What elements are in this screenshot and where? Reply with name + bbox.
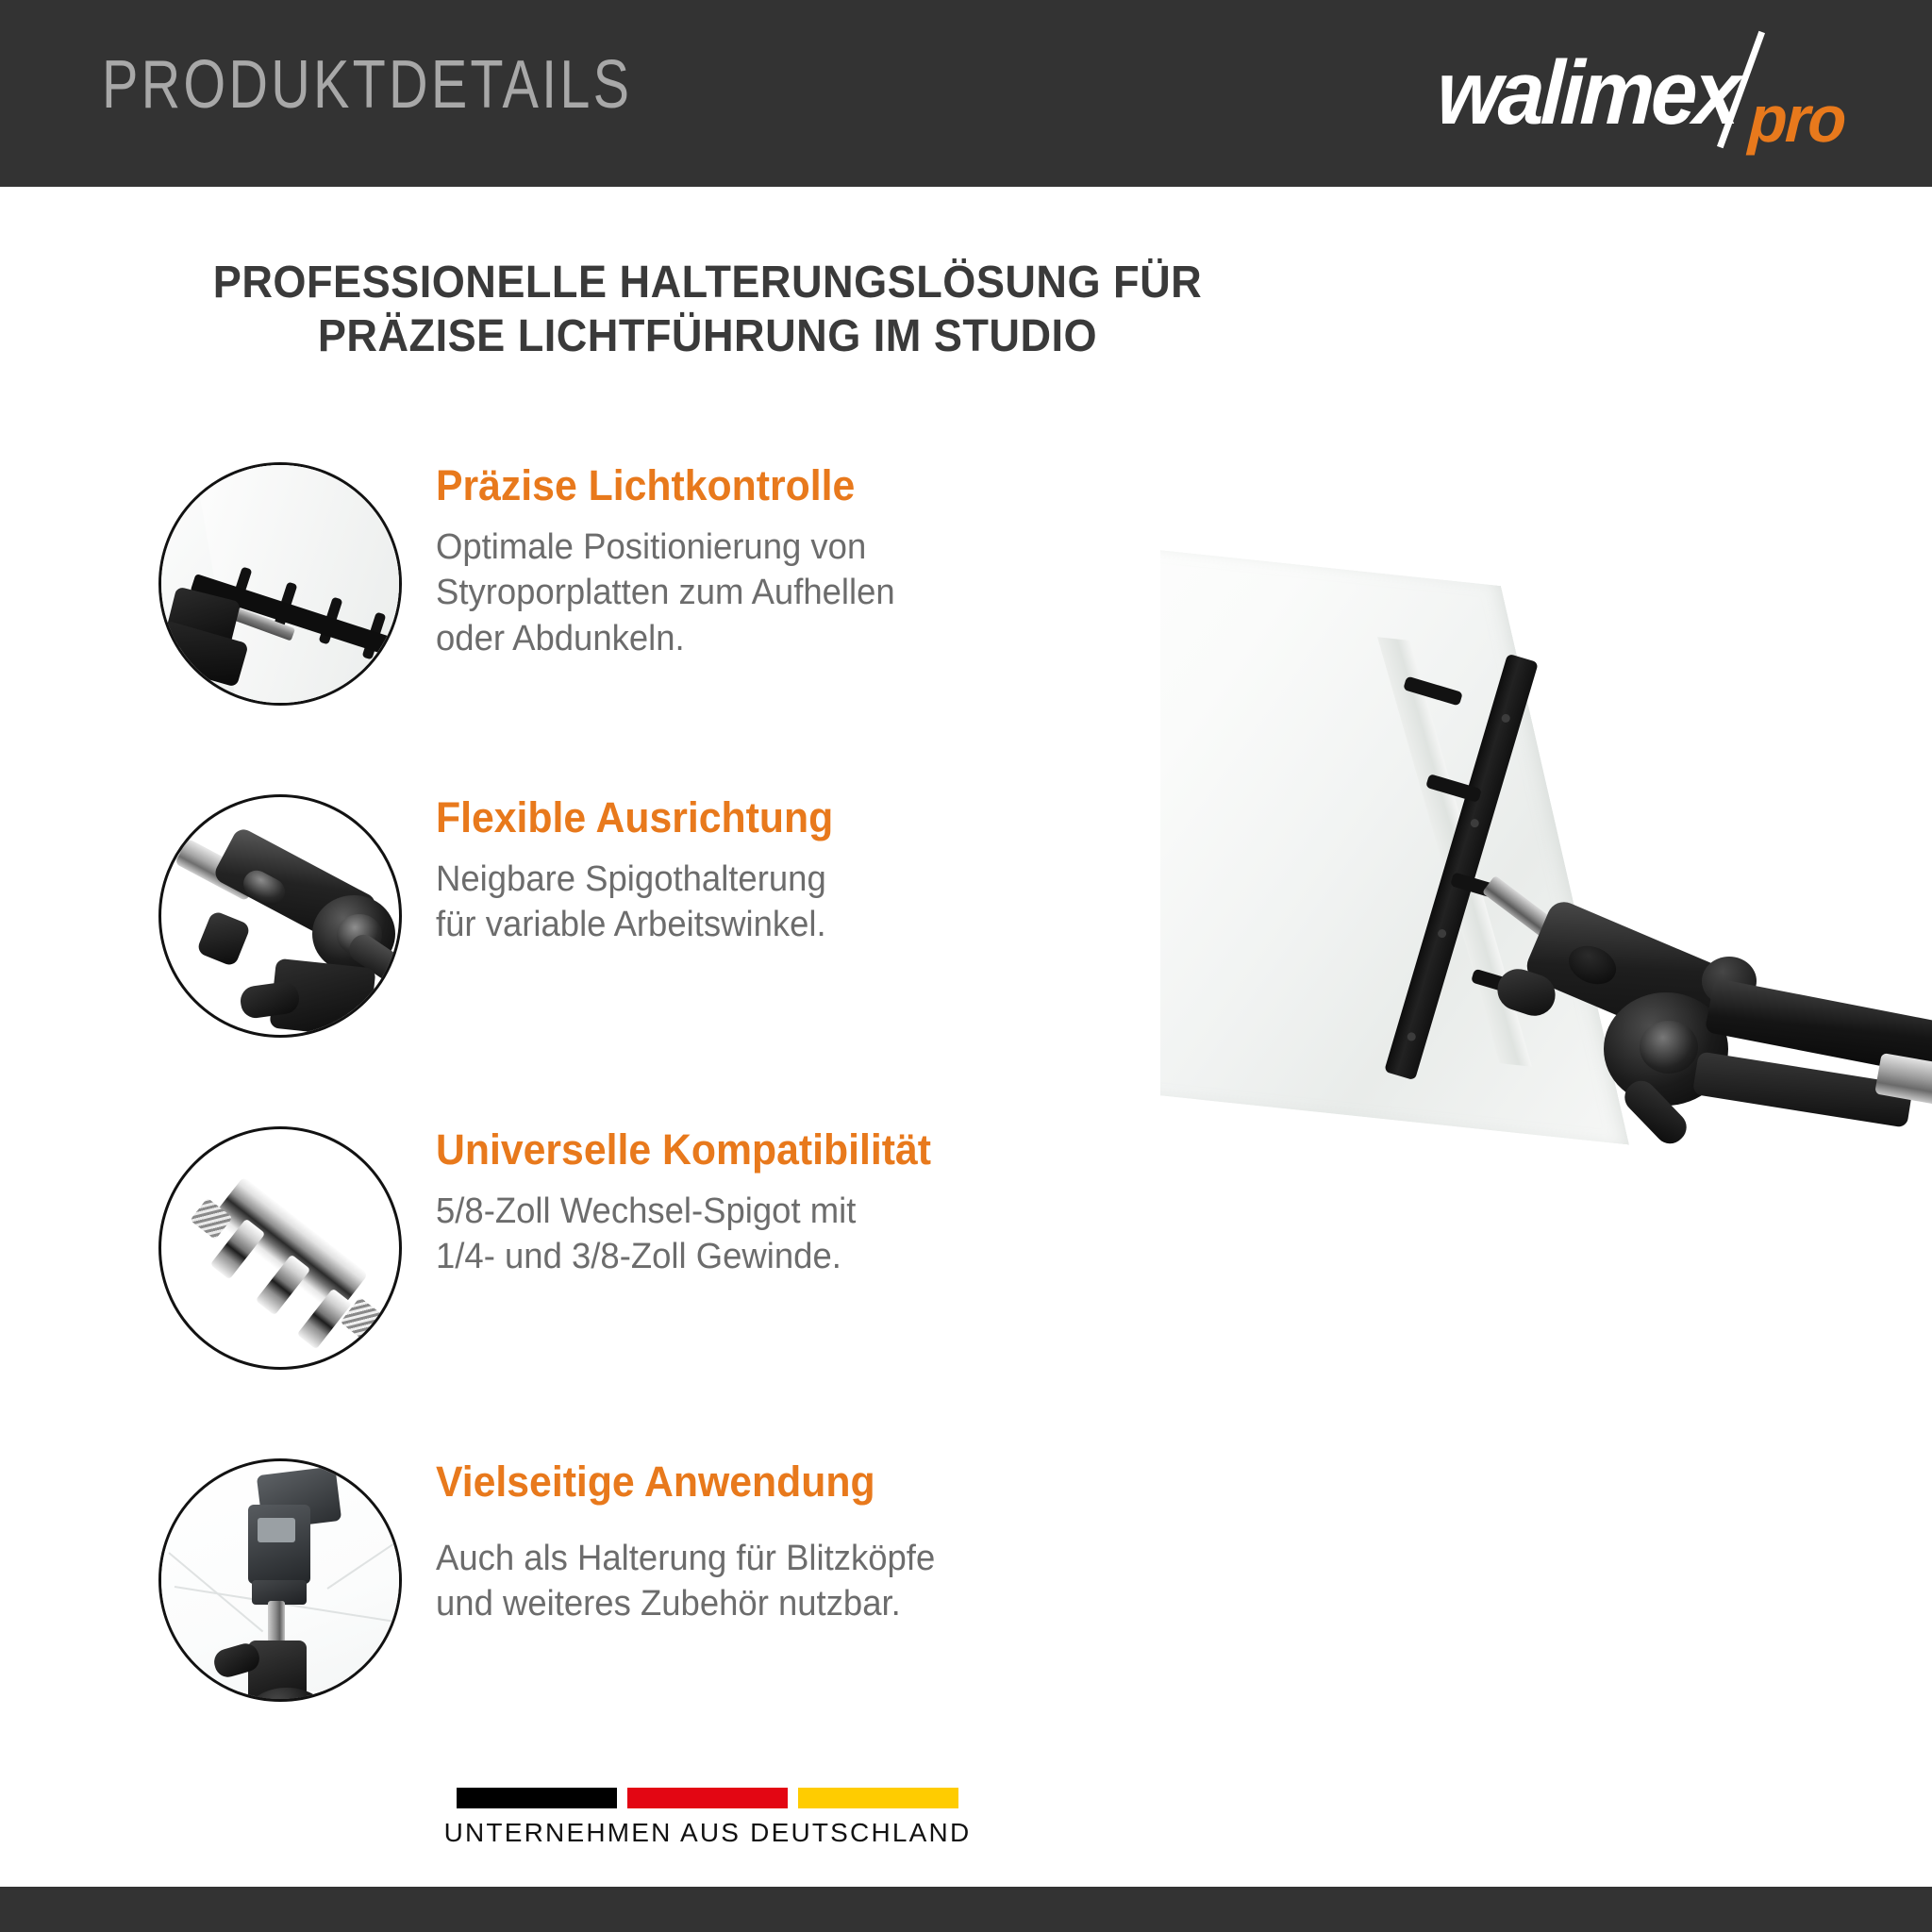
feature-title: Präzise Lichtkontrolle (436, 462, 1126, 509)
feature-description-line: 1/4- und 3/8-Zoll Gewinde. (436, 1234, 1133, 1280)
pivot-joint-core (1640, 1021, 1698, 1074)
feature-text-block: Universelle Kompatibilität 5/8-Zoll Wech… (436, 1126, 1162, 1280)
feature-title: Universelle Kompatibilität (436, 1126, 1126, 1174)
feature-description-line: Optimale Positionierung von (436, 525, 1133, 571)
feature-description-line: oder Abdunkeln. (436, 616, 1133, 662)
styrofoam-panel-holder-on-stand-photo (1160, 528, 1932, 1528)
feature-item: Flexible Ausrichtung Neigbare Spigothalt… (0, 794, 1226, 1126)
feature-text-block: Präzise Lichtkontrolle Optimale Position… (436, 462, 1162, 661)
bar-screw (1501, 713, 1511, 724)
bar-screw (1437, 928, 1447, 939)
made-in-germany-badge: UNTERNEHMEN AUS DEUTSCHLAND (0, 1788, 1415, 1848)
feature-item: Vielseitige Anwendung Auch als Halterung… (0, 1458, 1226, 1790)
page-footer-bar (0, 1887, 1932, 1932)
feature-description-line: Styroporplatten zum Aufhellen (436, 570, 1133, 616)
tilting-spigot-bracket-icon (158, 794, 402, 1038)
feature-description-line: Neigbare Spigothalterung (436, 857, 1133, 903)
page-header: PRODUKTDETAILS walimex pro (0, 0, 1932, 187)
flash-body (248, 1505, 310, 1584)
feature-description: Neigbare Spigothalterung für variable Ar… (436, 857, 1133, 948)
flag-stripe-red (627, 1788, 788, 1808)
feature-title: Vielseitige Anwendung (436, 1458, 1126, 1506)
feature-title: Flexible Ausrichtung (436, 794, 1126, 841)
bar-screw (1470, 818, 1480, 828)
bar-screw (1407, 1031, 1417, 1041)
feature-text-block: Vielseitige Anwendung Auch als Halterung… (436, 1458, 1162, 1627)
logo-brand-text: walimex (1435, 42, 1740, 145)
feature-description: Auch als Halterung für Blitzköpfe und we… (436, 1536, 1133, 1627)
feature-item: Universelle Kompatibilität 5/8-Zoll Wech… (0, 1126, 1226, 1458)
feature-list: Präzise Lichtkontrolle Optimale Position… (0, 462, 1226, 1790)
feature-description: 5/8-Zoll Wechsel-Spigot mit 1/4- und 3/8… (436, 1189, 1133, 1280)
feature-description-line: für variable Arbeitswinkel. (436, 902, 1133, 948)
chrome-spigot-adapter-icon (158, 1126, 402, 1370)
flag-stripe-black (457, 1788, 617, 1808)
page-title: PRODUKTDETAILS (102, 46, 632, 124)
flash-head-on-umbrella-bracket-icon (158, 1458, 402, 1702)
feature-description-line: Auch als Halterung für Blitzköpfe (436, 1536, 1133, 1582)
adjust-knob (196, 910, 252, 968)
flag-stripe-gold (798, 1788, 958, 1808)
holder-bar-with-prongs-icon (158, 462, 402, 706)
feature-description-line: 5/8-Zoll Wechsel-Spigot mit (436, 1189, 1133, 1235)
made-in-label: UNTERNEHMEN AUS DEUTSCHLAND (0, 1818, 1415, 1848)
german-flag-icon (457, 1788, 958, 1808)
logo-suffix-text: pro (1747, 81, 1846, 157)
feature-item: Präzise Lichtkontrolle Optimale Position… (0, 462, 1226, 794)
main-headline: PROFESSIONELLE HALTERUNGSLÖSUNG FÜR PRÄZ… (42, 257, 1373, 363)
feature-description-line: und weiteres Zubehör nutzbar. (436, 1581, 1133, 1627)
headline-line-2: PRÄZISE LICHTFÜHRUNG IM STUDIO (42, 310, 1373, 364)
feature-text-block: Flexible Ausrichtung Neigbare Spigothalt… (436, 794, 1162, 948)
headline-line-1: PROFESSIONELLE HALTERUNGSLÖSUNG FÜR (42, 257, 1373, 310)
walimex-pro-logo: walimex pro (1440, 32, 1864, 155)
feature-description: Optimale Positionierung von Styroporplat… (436, 525, 1133, 662)
flash-lcd-screen (258, 1518, 295, 1542)
